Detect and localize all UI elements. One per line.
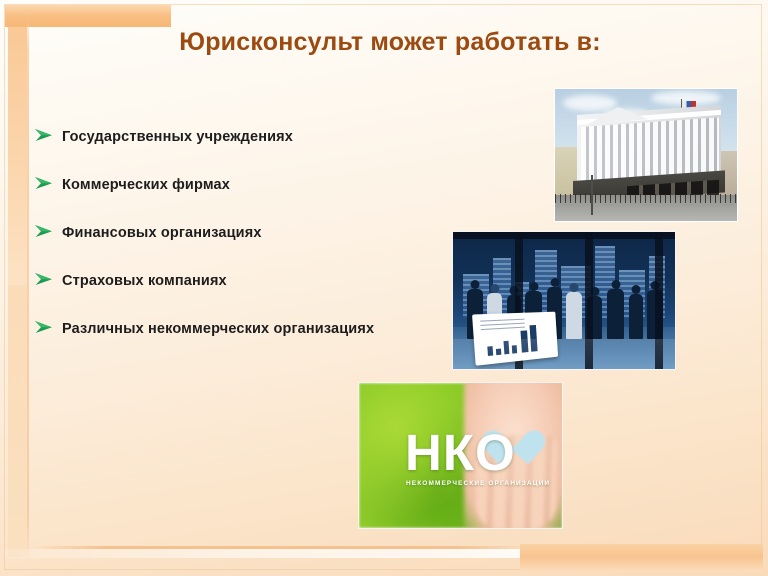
- green-arrow-bullet-icon: [34, 222, 62, 239]
- green-arrow-bullet-icon: [34, 174, 62, 191]
- street-pole: [591, 175, 593, 215]
- slide-title: Юрисконсульт может работать в:: [60, 28, 720, 57]
- decorative-band-bottom-right: [520, 544, 763, 571]
- street-fence: [555, 194, 737, 203]
- list-item: Финансовых организациях: [34, 222, 454, 270]
- decorative-band-top-left: [5, 5, 171, 27]
- green-arrow-bullet-icon: [34, 126, 62, 143]
- list-item-label: Финансовых организациях: [62, 222, 262, 242]
- list-item-label: Различных некоммерческих организациях: [62, 318, 374, 338]
- decorative-hairline-left: [27, 6, 29, 562]
- list-item: Различных некоммерческих организациях: [34, 318, 454, 366]
- window-header: [453, 232, 675, 239]
- presentation-slide: Юрисконсульт может работать в: Государст…: [0, 0, 768, 576]
- nko-subtitle-text: НЕКОММЕРЧЕСКИЕ ОРГАНИЗАЦИИ: [406, 480, 550, 487]
- bullet-list: Государственных учреждениях Коммерческих…: [34, 126, 454, 366]
- list-item-label: Коммерческих фирмах: [62, 174, 230, 194]
- list-item: Государственных учреждениях: [34, 126, 454, 174]
- list-item-label: Государственных учреждениях: [62, 126, 293, 146]
- government-building-photo: [554, 88, 738, 222]
- nko-photo: НКО НЕКОММЕРЧЕСКИЕ ОРГАНИЗАЦИИ: [358, 382, 563, 529]
- decorative-rule-bottom: [30, 546, 530, 549]
- nko-title-text: НКО: [405, 427, 516, 478]
- floor-reflection: [453, 339, 675, 369]
- list-item-label: Страховых компаниях: [62, 270, 227, 290]
- green-arrow-bullet-icon: [34, 270, 62, 287]
- green-arrow-bullet-icon: [34, 318, 62, 335]
- business-meeting-photo: [452, 231, 676, 370]
- tablet-text-lines: [480, 319, 525, 334]
- decorative-strip-left-lower: [8, 285, 27, 557]
- list-item: Коммерческих фирмах: [34, 174, 454, 222]
- cloud-shape: [563, 95, 617, 111]
- decorative-strip-left-upper: [8, 27, 27, 285]
- list-item: Страховых компаниях: [34, 270, 454, 318]
